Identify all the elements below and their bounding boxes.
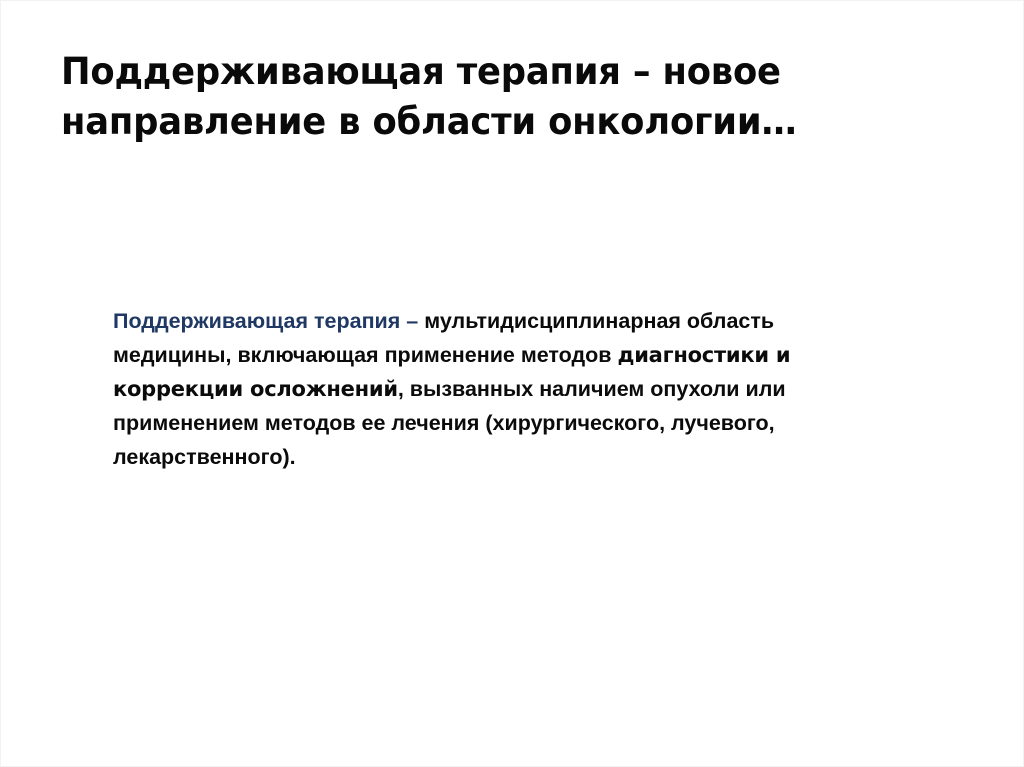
page-title: Поддерживающая терапия – новое направлен… — [61, 47, 901, 147]
slide-canvas: Поддерживающая терапия – новое направлен… — [0, 0, 1024, 767]
body-run-lead: Поддерживающая терапия – — [113, 309, 418, 333]
body-text-block: Поддерживающая терапия – мультидисциплин… — [113, 304, 813, 474]
